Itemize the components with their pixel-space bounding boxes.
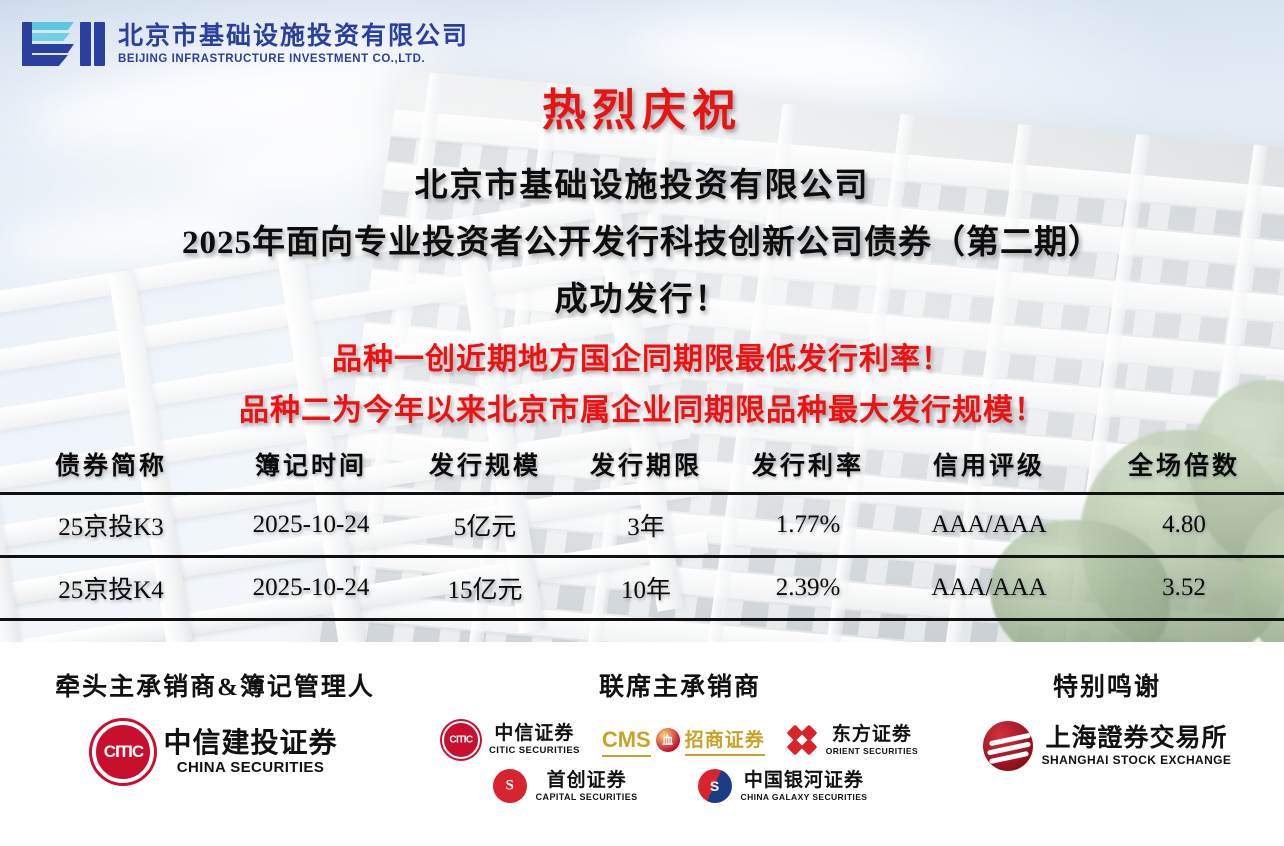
cell-rating: AAA/AAA [894, 494, 1084, 557]
bond-results-table: 债券简称 簿记时间 发行规模 发行期限 发行利率 信用评级 全场倍数 25京投K… [0, 436, 1284, 621]
logo-text: 北京市基础设施投资有限公司 BEIJING INFRASTRUCTURE INV… [118, 23, 469, 66]
logo-company-cn: 北京市基础设施投资有限公司 [118, 23, 469, 51]
sponsor-label: 中国银河证券 CHINA GALAXY SECURITIES [741, 771, 868, 802]
footer-title-thanks: 特别鸣谢 [930, 667, 1284, 703]
footer-title-lead: 牵头主承销商&簿记管理人 [0, 667, 430, 703]
sponsor-name-cn: 上海證券交易所 [1042, 726, 1232, 751]
sponsor-name-cn: 中信证券 [489, 724, 580, 743]
sponsor-cms: CMS 血 招商证券 [602, 724, 765, 757]
bond-title-line: 2025年面向专业投资者公开发行科技创新公司债券（第二期） [0, 215, 1284, 263]
citic-seal-icon: CITIC [442, 721, 480, 759]
sponsor-name-en: ORIENT SECURITIES [826, 747, 918, 756]
cell-bond-name: 25京投K3 [0, 494, 222, 557]
logo-company-en: BEIJING INFRASTRUCTURE INVESTMENT CO.,LT… [118, 53, 469, 65]
table-header-row: 债券简称 簿记时间 发行规模 发行期限 发行利率 信用评级 全场倍数 [0, 436, 1284, 494]
china-galaxy-icon: S [698, 769, 732, 803]
sponsor-name-cn: 招商证券 [685, 725, 765, 756]
sponsor-name-cn: 中国银河证券 [741, 771, 868, 790]
sponsor-name-en: CHINA GALAXY SECURITIES [741, 793, 868, 802]
hero-banner: 北京市基础设施投资有限公司 BEIJING INFRASTRUCTURE INV… [0, 0, 1284, 642]
sponsor-name-cn: 中信建投证券 [163, 729, 337, 757]
sponsor-label: 中信建投证券 CHINA SECURITIES [163, 729, 337, 775]
cell-bond-name: 25京投K4 [0, 557, 222, 620]
joint-sponsor-row-1: CITIC 中信证券 CITIC SECURITIES CMS 血 招商证券 [430, 721, 930, 759]
capital-securities-icon: S [493, 769, 527, 803]
table-row: 25京投K3 2025-10-24 5亿元 3年 1.77% AAA/AAA 4… [0, 494, 1284, 557]
footer-title-joint: 联席主承销商 [430, 667, 930, 703]
bii-logo-icon [22, 18, 104, 70]
col-header-issue-size: 发行规模 [400, 436, 570, 494]
sponsor-name-cn: 首创证券 [536, 771, 638, 790]
joint-sponsor-row-2: S 首创证券 CAPITAL SECURITIES S 中国银河证券 CHINA… [430, 769, 930, 803]
sponsor-label: 上海證券交易所 SHANGHAI STOCK EXCHANGE [1042, 726, 1232, 766]
cell-issue-size: 15亿元 [400, 557, 570, 620]
sponsor-name-cn: 东方证劵 [826, 725, 918, 744]
highlight-line-2: 品种二为今年以来北京市属企业同期限品种最大发行规模！ [0, 385, 1284, 429]
sponsor-name-en: CHINA SECURITIES [163, 760, 337, 775]
sponsor-orient-securities: 东方证劵 ORIENT SECURITIES [787, 725, 918, 756]
sponsor-label: 东方证劵 ORIENT SECURITIES [826, 725, 918, 756]
footer-section-special-thanks: 特别鸣谢 上海證券交易所 SHANGHAI STOCK EXCHANGE [930, 642, 1284, 771]
thanks-sponsor-row: 上海證券交易所 SHANGHAI STOCK EXCHANGE [930, 721, 1284, 771]
issuer-name-line: 北京市基础设施投资有限公司 [0, 158, 1284, 206]
cell-coverage: 4.80 [1084, 494, 1284, 557]
col-header-bond-name: 债券简称 [0, 436, 222, 494]
highlight-line-1: 品种一创近期地方国企同期限最低发行利率！ [0, 334, 1284, 378]
cell-coverage: 3.52 [1084, 557, 1284, 620]
footer-section-joint-underwriters: 联席主承销商 CITIC 中信证券 CITIC SECURITIES CMS 血… [430, 642, 930, 803]
col-header-coverage: 全场倍数 [1084, 436, 1284, 494]
table-header: 债券简称 簿记时间 发行规模 发行期限 发行利率 信用评级 全场倍数 [0, 436, 1284, 494]
col-header-rate: 发行利率 [722, 436, 894, 494]
sponsor-china-securities: CITIC 中信建投证券 CHINA SECURITIES [92, 721, 337, 783]
col-header-book-date: 簿记时间 [222, 436, 400, 494]
cell-tenor: 10年 [570, 557, 722, 620]
footer-section-lead-underwriter: 牵头主承销商&簿记管理人 CITIC 中信建投证券 CHINA SECURITI… [0, 642, 430, 783]
cell-rate: 2.39% [722, 557, 894, 620]
cell-rating: AAA/AAA [894, 557, 1084, 620]
sponsor-shanghai-stock-exchange: 上海證券交易所 SHANGHAI STOCK EXCHANGE [983, 721, 1232, 771]
sponsor-china-galaxy: S 中国银河证券 CHINA GALAXY SECURITIES [698, 769, 868, 803]
citic-securities-seal-icon: CITIC [92, 721, 154, 783]
sponsor-name-en: SHANGHAI STOCK EXCHANGE [1042, 754, 1232, 766]
sponsor-label: 首创证券 CAPITAL SECURITIES [536, 771, 638, 802]
sponsor-name-en: CITIC SECURITIES [489, 746, 580, 756]
col-header-tenor: 发行期限 [570, 436, 722, 494]
sponsors-footer: 牵头主承销商&簿记管理人 CITIC 中信建投证券 CHINA SECURITI… [0, 642, 1284, 846]
table-body: 25京投K3 2025-10-24 5亿元 3年 1.77% AAA/AAA 4… [0, 494, 1284, 620]
celebrate-headline: 热烈庆祝 [0, 74, 1284, 138]
orient-diamond-icon [787, 725, 817, 755]
lead-sponsor-row: CITIC 中信建投证券 CHINA SECURITIES [0, 721, 430, 783]
cms-emblem-icon: 血 [656, 728, 680, 752]
table-row: 25京投K4 2025-10-24 15亿元 10年 2.39% AAA/AAA… [0, 557, 1284, 620]
sponsor-label: 中信证券 CITIC SECURITIES [489, 724, 580, 756]
sponsor-name-en: CMS [602, 727, 651, 757]
sponsor-citic-securities: CITIC 中信证券 CITIC SECURITIES [442, 721, 580, 759]
col-header-rating: 信用评级 [894, 436, 1084, 494]
sponsor-capital-securities: S 首创证券 CAPITAL SECURITIES [493, 769, 638, 803]
cell-rate: 1.77% [722, 494, 894, 557]
shanghai-stock-exchange-icon [983, 721, 1033, 771]
cell-book-date: 2025-10-24 [222, 557, 400, 620]
company-logo: 北京市基础设施投资有限公司 BEIJING INFRASTRUCTURE INV… [22, 18, 469, 70]
sponsor-name-en: CAPITAL SECURITIES [536, 793, 638, 802]
success-line: 成功发行！ [0, 272, 1284, 320]
cell-book-date: 2025-10-24 [222, 494, 400, 557]
cell-tenor: 3年 [570, 494, 722, 557]
cell-issue-size: 5亿元 [400, 494, 570, 557]
